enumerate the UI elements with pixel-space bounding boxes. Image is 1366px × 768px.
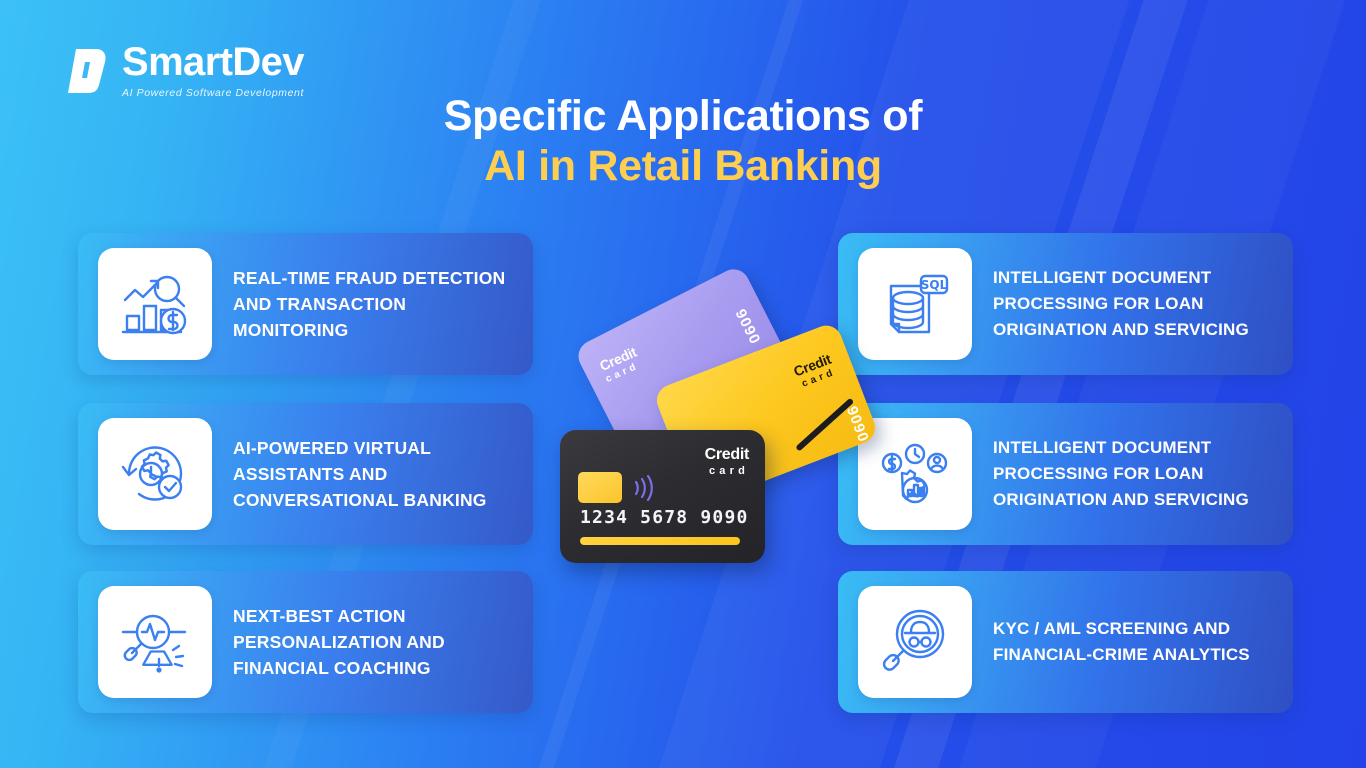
smartdev-d-mark-icon [66, 47, 108, 95]
card-stripe [580, 537, 740, 545]
feature-card-label: REAL-TIME FRAUD DETECTION AND TRANSACTIO… [233, 265, 515, 344]
feature-card-label: INTELLIGENT DOCUMENT PROCESSING FOR LOAN… [993, 265, 1275, 342]
card-edge-number: 9090 [843, 404, 870, 444]
feature-card-fraud-detection[interactable]: REAL-TIME FRAUD DETECTION AND TRANSACTIO… [78, 233, 533, 375]
gear-analytics-dollar-clock-user-icon [858, 418, 972, 530]
card-brand: Credit card [705, 447, 749, 477]
gear-clock-check-icon [98, 418, 212, 530]
chip-icon [578, 472, 622, 503]
feature-card-label: KYC / AML SCREENING AND FINANCIAL-CRIME … [993, 616, 1275, 668]
credit-card-black: Credit card 1234 5678 9090 [560, 430, 765, 563]
brand-name: SmartDev [122, 42, 304, 82]
page-title: Specific Applications of AI in Retail Ba… [0, 92, 1366, 192]
feature-card-label: INTELLIGENT DOCUMENT PROCESSING FOR LOAN… [993, 435, 1275, 512]
svg-text:SQL: SQL [921, 278, 948, 292]
feature-card-virtual-assistants[interactable]: AI-POWERED VIRTUAL ASSISTANTS AND CONVER… [78, 403, 533, 545]
feature-card-document-processing-analytics[interactable]: INTELLIGENT DOCUMENT PROCESSING FOR LOAN… [838, 403, 1293, 545]
contactless-wave-icon [630, 474, 656, 502]
feature-card-document-processing-sql[interactable]: SQL INTELLIGENT DOCUMENT PROCESSING FOR … [838, 233, 1293, 375]
brand-logo: SmartDev AI Powered Software Development [66, 42, 304, 99]
card-edge-number: 9090 [732, 307, 762, 347]
feature-card-kyc-aml[interactable]: KYC / AML SCREENING AND FINANCIAL-CRIME … [838, 571, 1293, 713]
fraud-detection-chart-magnifier-icon [98, 248, 212, 360]
title-line-1: Specific Applications of [0, 92, 1366, 142]
credit-cards-stack: Credit card 9090 Credit card 9090 Credit… [548, 290, 838, 580]
card-magnetic-stripe [795, 398, 854, 452]
magnifier-spy-hat-icon [858, 586, 972, 698]
card-brand: Credit card [597, 345, 643, 385]
feature-card-label: NEXT-BEST ACTION PERSONALIZATION AND FIN… [233, 603, 515, 682]
feature-card-label: AI-POWERED VIRTUAL ASSISTANTS AND CONVER… [233, 435, 515, 514]
magnifier-pulse-alert-icon [98, 586, 212, 698]
card-brand: Credit card [792, 352, 838, 391]
card-number: 1234 5678 9090 [580, 507, 749, 528]
feature-card-next-best-action[interactable]: NEXT-BEST ACTION PERSONALIZATION AND FIN… [78, 571, 533, 713]
title-line-2: AI in Retail Banking [0, 142, 1366, 192]
sql-document-database-icon: SQL [858, 248, 972, 360]
